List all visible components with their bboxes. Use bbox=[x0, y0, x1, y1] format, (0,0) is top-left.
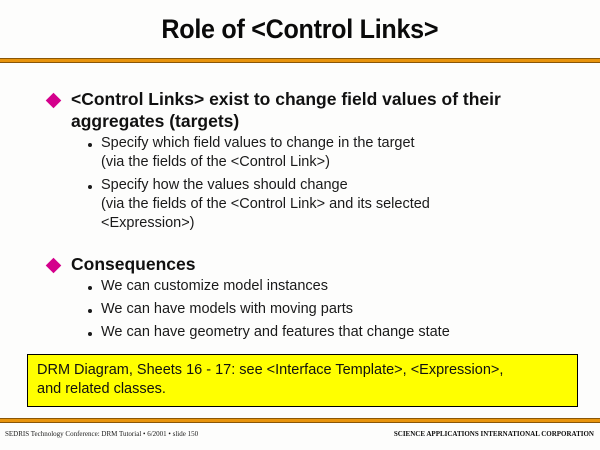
page-title: Role of <Control Links> bbox=[162, 14, 439, 44]
diamond-bullet-icon bbox=[46, 258, 62, 274]
footer-left-text: SEDRIS Technology Conference: DRM Tutori… bbox=[5, 430, 198, 439]
list-item: Specify how the values should change (vi… bbox=[0, 176, 600, 233]
sub-bullet-line: (via the fields of the <Control Link>) bbox=[101, 153, 415, 172]
list-item: We can have geometry and features that c… bbox=[0, 323, 600, 342]
bullet-item-consequences: Consequences bbox=[0, 253, 600, 275]
slide-body: <Control Links> exist to change field va… bbox=[0, 88, 600, 346]
list-item: Specify which field values to change in … bbox=[0, 134, 600, 172]
dot-bullet-icon bbox=[88, 143, 92, 147]
sub-bullet-text: We can have models with moving parts bbox=[101, 300, 353, 319]
sub-bullet-list-consequences: We can customize model instances We can … bbox=[0, 277, 600, 342]
sub-bullet-text: Specify how the values should change (vi… bbox=[101, 176, 430, 233]
sub-bullet-line: <Expression>) bbox=[101, 214, 430, 233]
list-item: We can have models with moving parts bbox=[0, 300, 600, 319]
bullet-text: Consequences bbox=[71, 253, 195, 275]
diamond-bullet-icon bbox=[46, 93, 62, 109]
sub-bullet-line: (via the fields of the <Control Link> an… bbox=[101, 195, 430, 214]
sub-bullet-text: Specify which field values to change in … bbox=[101, 134, 415, 172]
callout-line: and related classes. bbox=[37, 380, 569, 399]
sub-bullet-list-control-links: Specify which field values to change in … bbox=[0, 134, 600, 233]
title-divider-rule bbox=[0, 58, 600, 63]
callout-box: DRM Diagram, Sheets 16 - 17: see <Interf… bbox=[27, 354, 578, 407]
sub-bullet-text: We can customize model instances bbox=[101, 277, 328, 296]
callout-line: DRM Diagram, Sheets 16 - 17: see <Interf… bbox=[37, 361, 569, 380]
footer-right-text: SCIENCE APPLICATIONS INTERNATIONAL CORPO… bbox=[394, 430, 594, 439]
sub-bullet-text: We can have geometry and features that c… bbox=[101, 323, 450, 342]
sub-bullet-line: Specify how the values should change bbox=[101, 177, 348, 193]
dot-bullet-icon bbox=[88, 286, 92, 290]
bullet-text: <Control Links> exist to change field va… bbox=[71, 88, 551, 132]
footer-divider-rule bbox=[0, 418, 600, 423]
list-item: We can customize model instances bbox=[0, 277, 600, 296]
title-area: Role of <Control Links> bbox=[0, 0, 600, 57]
dot-bullet-icon bbox=[88, 332, 92, 336]
dot-bullet-icon bbox=[88, 309, 92, 313]
bullet-item-control-links: <Control Links> exist to change field va… bbox=[0, 88, 600, 132]
slide: Role of <Control Links> <Control Links> … bbox=[0, 0, 600, 450]
sub-bullet-line: Specify which field values to change in … bbox=[101, 135, 415, 151]
dot-bullet-icon bbox=[88, 185, 92, 189]
